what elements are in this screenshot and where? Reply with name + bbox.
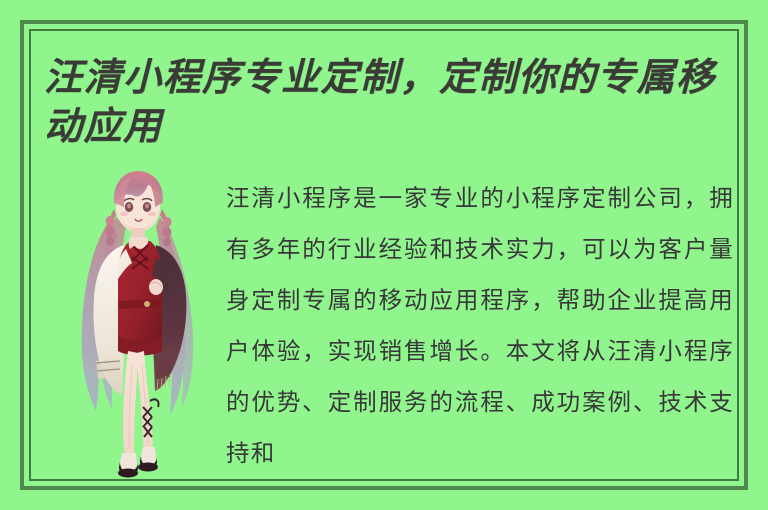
banner-content-row: 汪清小程序是一家专业的小程序定制公司，拥有多年的行业经验和技术实力，可以为客户量… xyxy=(38,165,738,485)
banner-title: 汪清小程序专业定制，定制你的专属移动应用 xyxy=(44,52,734,150)
banner-body-text-container: 汪清小程序是一家专业的小程序定制公司，拥有多年的行业经验和技术实力，可以为客户量… xyxy=(226,173,734,473)
anime-girl-illustration xyxy=(52,165,222,490)
banner-title-block: 汪清小程序专业定制，定制你的专属移动应用 xyxy=(44,52,734,150)
banner-body-text: 汪清小程序是一家专业的小程序定制公司，拥有多年的行业经验和技术实力，可以为客户量… xyxy=(226,173,734,473)
promo-banner: 汪清小程序专业定制，定制你的专属移动应用 xyxy=(0,0,768,510)
